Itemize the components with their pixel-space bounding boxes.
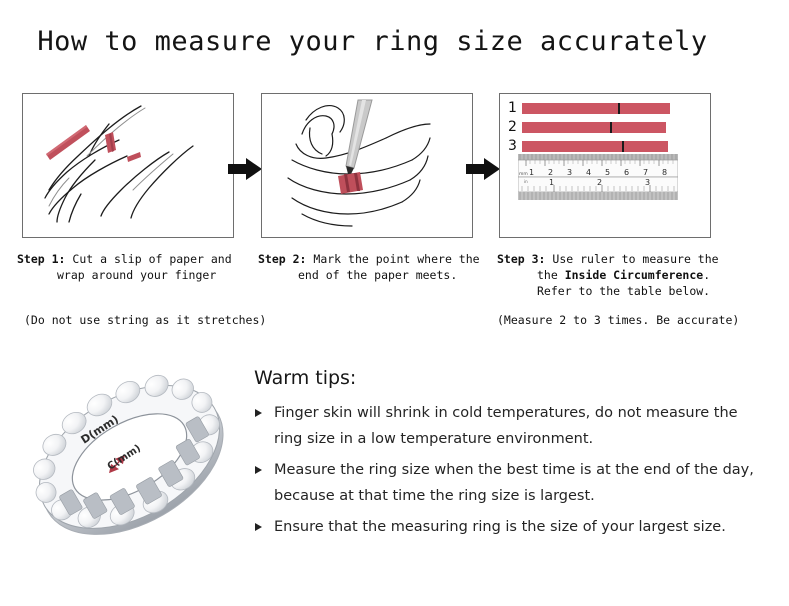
- svg-text:4: 4: [586, 168, 591, 177]
- step-2-caption: Step 2: Mark the point where the end of …: [258, 251, 486, 283]
- tip-item-1: Finger skin will shrink in cold temperat…: [254, 400, 754, 452]
- step-3-line2-suffix: .: [703, 268, 710, 282]
- step-2-label: Step 2:: [258, 252, 306, 266]
- step-3-note: (Measure 2 to 3 times. Be accurate): [497, 313, 739, 327]
- hand-with-paper-strip-illustration: [23, 94, 232, 236]
- strip-number-3: 3: [508, 138, 522, 154]
- step-1-note: (Do not use string as it stretches): [24, 313, 266, 327]
- strip-bar-2: [522, 122, 666, 133]
- svg-text:8: 8: [662, 168, 667, 177]
- step-3-panel: 1 2 3: [499, 93, 711, 238]
- tip-text-1: Finger skin will shrink in cold temperat…: [274, 405, 738, 447]
- ring-diagram: D(mm) C(mm): [24, 352, 242, 574]
- step-3-line3: Refer to the table below.: [497, 283, 732, 299]
- strip-bar-1: [522, 103, 670, 114]
- step-2-panel: [261, 93, 473, 238]
- step-1-label: Step 1:: [17, 252, 65, 266]
- eternity-ring-illustration: D(mm) C(mm): [24, 352, 242, 574]
- strip-number-2: 2: [508, 119, 522, 135]
- svg-text:7: 7: [643, 168, 648, 177]
- svg-text:5: 5: [605, 168, 610, 177]
- strip-bar-3: [522, 141, 668, 152]
- arrow-right-icon-1: [228, 158, 262, 180]
- tip-item-3: Ensure that the measuring ring is the si…: [254, 514, 754, 540]
- step-3-label: Step 3:: [497, 252, 545, 266]
- step-3-caption: Step 3: Use ruler to measure the the Ins…: [497, 251, 732, 299]
- svg-text:3: 3: [567, 168, 572, 177]
- ring-size-guide-page: How to measure your ring size accurately: [0, 0, 789, 606]
- svg-text:2: 2: [548, 168, 553, 177]
- step-1-line2: wrap around your finger: [17, 267, 242, 283]
- tip-text-2: Measure the ring size when the best time…: [274, 462, 754, 504]
- step-1-line1: Cut a slip of paper and: [72, 252, 231, 266]
- hand-marking-paper-with-pen-illustration: [262, 94, 471, 236]
- svg-text:6: 6: [624, 168, 629, 177]
- svg-text:1: 1: [529, 168, 534, 177]
- measured-strip-3: 3: [508, 138, 668, 154]
- bullet-triangle-icon: [255, 409, 262, 417]
- strip-number-1: 1: [508, 100, 522, 116]
- step-1-caption: Step 1: Cut a slip of paper and wrap aro…: [17, 251, 242, 283]
- tip-text-3: Ensure that the measuring ring is the si…: [274, 519, 726, 535]
- step-3-line1: Use ruler to measure the: [552, 252, 718, 266]
- inside-circumference-emphasis: Inside Circumference: [565, 268, 703, 282]
- svg-text:2: 2: [597, 178, 602, 187]
- strip-mark-3: [622, 141, 624, 152]
- page-title: How to measure your ring size accurately: [0, 26, 745, 57]
- strip-mark-2: [610, 122, 612, 133]
- warm-tips-heading: Warm tips:: [254, 367, 356, 389]
- step-2-line2: end of the paper meets.: [258, 267, 486, 283]
- bullet-triangle-icon: [255, 466, 262, 474]
- measured-strip-1: 1: [508, 100, 670, 116]
- tip-item-2: Measure the ring size when the best time…: [254, 457, 754, 509]
- step-1-panel: [22, 93, 234, 238]
- ruler-icon: 123 456 78 mm 123 in: [518, 154, 678, 204]
- measured-strip-2: 2: [508, 119, 666, 135]
- warm-tips-list: Finger skin will shrink in cold temperat…: [254, 400, 754, 545]
- step-3-line2: the Inside Circumference.: [497, 267, 732, 283]
- svg-text:3: 3: [645, 178, 650, 187]
- arrow-right-icon-2: [466, 158, 500, 180]
- step-3-line2-prefix: the: [537, 268, 565, 282]
- svg-text:mm: mm: [519, 172, 528, 177]
- svg-text:in: in: [524, 179, 528, 184]
- svg-text:1: 1: [549, 178, 554, 187]
- bullet-triangle-icon: [255, 523, 262, 531]
- step-2-line1: Mark the point where the: [313, 252, 479, 266]
- strip-mark-1: [618, 103, 620, 114]
